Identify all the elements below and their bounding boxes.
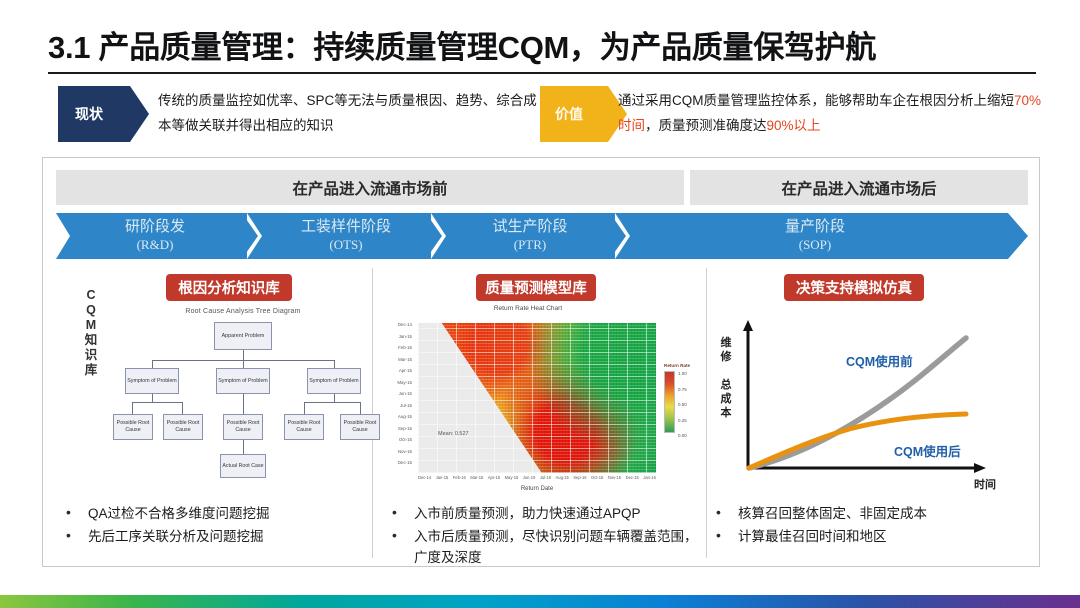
heat-xtick: Mar-15: [470, 475, 483, 480]
heat-ytick: Mar-15: [378, 354, 415, 366]
return-rate-heat-chart: Return Rate Heat Chart Dec-14 Jan-15 Feb…: [378, 305, 708, 500]
list-item: 入市后质量预测，尽快识别问题车辆覆盖范围，广度及深度: [388, 526, 708, 568]
callout-value-tag-label: 价值: [555, 104, 583, 124]
phase-arrow-ots-en: (OTS): [329, 236, 362, 254]
callout-status-text: 传统的质量监控如优率、SPC等无法与质量根因、趋势、综合成本等做关联并得出相应的…: [158, 88, 538, 138]
list-item: QA过检不合格多维度问题挖掘: [62, 503, 377, 524]
tree-node-possible-cause: Possible Root Cause: [163, 414, 203, 440]
colorbar-tick: 1.00: [678, 369, 687, 385]
banner-quality-prediction-model[interactable]: 质量预测模型库: [476, 274, 596, 301]
tree-line: [360, 402, 361, 414]
heat-xtick: Jan-15: [436, 475, 449, 480]
heat-xtick: Apr-15: [488, 475, 500, 480]
heat-chart-plot-area: [418, 323, 656, 473]
callout-value-text: 通过采用CQM质量管理监控体系，能够帮助车企在根因分析上缩短70%时间，质量预测…: [618, 88, 1048, 138]
tree-line: [304, 402, 305, 414]
heat-xtick: Dec-14: [418, 475, 431, 480]
tree-line: [182, 402, 183, 414]
phase-arrow-ots[interactable]: 工装样件阶段 (OTS): [254, 213, 438, 259]
tree-line: [304, 402, 360, 403]
phase-arrow-rd[interactable]: 研阶段发 (R&D): [56, 213, 254, 259]
tree-node-possible-cause: Possible Root Cause: [223, 414, 263, 440]
phase-arrow-rd-en: (R&D): [137, 236, 174, 254]
colorbar-tick: 0.75: [678, 385, 687, 401]
phase-header-post-market: 在产品进入流通市场后: [690, 170, 1028, 205]
heat-chart-mean-annotation: Mean: 0.527: [438, 431, 469, 437]
bullet-list-decision-support: 核算召回整体固定、非固定成本 计算最佳召回时间和地区: [712, 503, 1032, 549]
maintenance-cost-line-chart: 维修总成本 CQM使用前 CQM使用后 时间: [718, 318, 1008, 490]
phase-arrow-sop-cn: 量产阶段: [785, 218, 845, 236]
heat-chart-cell-texture: [418, 323, 656, 473]
heat-ytick: May-15: [378, 377, 415, 389]
tree-line: [132, 402, 133, 414]
phase-arrow-ots-cn: 工装样件阶段: [301, 218, 391, 236]
heat-ytick: Dec-15: [378, 457, 415, 469]
heat-xtick: May-15: [505, 475, 519, 480]
heat-chart-x-axis-label: Return Date: [418, 486, 656, 492]
callout-value-text-part2: ，质量预测准确度达: [645, 118, 767, 133]
phase-arrow-rd-cn: 研阶段发: [125, 218, 185, 236]
phase-arrow-band: 研阶段发 (R&D) 工装样件阶段 (OTS) 试生产阶段 (PTR) 量产阶段…: [56, 213, 1028, 259]
callout-value-highlight2: 90%以上: [767, 118, 821, 133]
title-divider: [48, 72, 1036, 74]
callout-value-text-part1: 通过采用CQM质量管理监控体系，能够帮助车企在根因分析上缩短: [618, 93, 1014, 108]
tree-line: [152, 394, 153, 402]
heat-chart-x-axis: Dec-14 Jan-15 Feb-15 Mar-15 Apr-15 May-1…: [418, 475, 656, 480]
phase-header-row: 在产品进入流通市场前 在产品进入流通市场后: [56, 170, 1028, 205]
page-title: 3.1 产品质量管理：持续质量管理CQM，为产品质量保驾护航: [48, 22, 1038, 67]
colorbar-ticks: 1.00 0.75 0.50 0.25 0.00: [678, 369, 687, 447]
phase-arrow-ptr-cn: 试生产阶段: [492, 218, 567, 236]
heat-ytick: Dec-14: [378, 319, 415, 331]
callout-status-arrow-icon: [130, 86, 149, 142]
callout-status-tag: 现状: [58, 86, 130, 142]
heat-xtick: Sep-15: [573, 475, 586, 480]
heat-ytick: Jul-15: [378, 400, 415, 412]
heat-ytick: Feb-15: [378, 342, 415, 354]
callout-value-tag: 价值: [540, 86, 608, 142]
colorbar-tick: 0.00: [678, 431, 687, 447]
tree-node-symptom: Symptom of Problem: [307, 368, 361, 394]
x-axis-arrow-icon: [974, 463, 986, 473]
heat-ytick: Nov-15: [378, 446, 415, 458]
tree-node-root: Apparent Problem: [214, 322, 272, 350]
banner-root-cause-kb[interactable]: 根因分析知识库: [166, 274, 292, 301]
heat-xtick: Nov-15: [608, 475, 621, 480]
tree-node-possible-cause: Possible Root Cause: [340, 414, 380, 440]
bullet-list-root-cause: QA过检不合格多维度问题挖掘 先后工序关联分析及问题挖掘: [62, 503, 377, 549]
list-item: 计算最佳召回时间和地区: [712, 526, 1032, 547]
tree-line: [152, 360, 153, 368]
heat-xtick: Feb-15: [453, 475, 466, 480]
tree-node-possible-cause: Possible Root Cause: [113, 414, 153, 440]
tree-node-possible-cause: Possible Root Cause: [284, 414, 324, 440]
heat-xtick: Aug-15: [556, 475, 569, 480]
heat-ytick: Apr-15: [378, 365, 415, 377]
root-cause-tree-diagram: Root Cause Analysis Tree Diagram Apparen…: [118, 308, 368, 488]
heat-xtick: Jun-15: [523, 475, 536, 480]
phase-arrow-sop-en: (SOP): [799, 236, 832, 254]
list-item: 先后工序关联分析及问题挖掘: [62, 526, 377, 547]
line-chart-x-axis-label: 时间: [974, 476, 996, 492]
tree-node-symptom: Symptom of Problem: [216, 368, 270, 394]
heat-xtick: Jan-16: [643, 475, 656, 480]
heat-xtick: Jul-15: [540, 475, 551, 480]
list-item: 入市前质量预测，助力快速通过APQP: [388, 503, 708, 524]
phase-arrow-ptr-en: (PTR): [514, 236, 547, 254]
colorbar-tick: 0.25: [678, 416, 687, 432]
list-item: 核算召回整体固定、非固定成本: [712, 503, 1032, 524]
y-axis-arrow-icon: [743, 320, 753, 331]
callout-status-tag-label: 现状: [75, 104, 103, 124]
line-chart-legend-before: CQM使用前: [846, 351, 913, 370]
callout-value: 价值 通过采用CQM质量管理监控体系，能够帮助车企在根因分析上缩短70%时间，质…: [540, 86, 1040, 142]
heat-chart-title: Return Rate Heat Chart: [378, 305, 678, 312]
tree-line: [243, 350, 244, 360]
phase-header-pre-market: 在产品进入流通市场前: [56, 170, 684, 205]
callout-status: 现状 传统的质量监控如优率、SPC等无法与质量根因、趋势、综合成本等做关联并得出…: [58, 86, 528, 142]
tree-line: [243, 440, 244, 454]
arrow-tip-icon: [1008, 213, 1028, 259]
banner-decision-support-simulation[interactable]: 决策支持模拟仿真: [784, 274, 924, 301]
tree-line: [334, 394, 335, 402]
tree-line: [132, 402, 182, 403]
heat-ytick: Oct-15: [378, 434, 415, 446]
cqm-knowledge-base-label: CQM知识库: [80, 288, 102, 378]
tree-line: [243, 394, 244, 414]
colorbar-gradient: [664, 371, 675, 433]
phase-arrow-ptr[interactable]: 试生产阶段 (PTR): [438, 213, 622, 259]
heat-ytick: Aug-15: [378, 411, 415, 423]
colorbar-tick: 0.50: [678, 400, 687, 416]
heat-ytick: Jun-15: [378, 388, 415, 400]
tree-diagram-title: Root Cause Analysis Tree Diagram: [118, 308, 368, 315]
phase-arrow-sop[interactable]: 量产阶段 (SOP): [622, 213, 1008, 259]
heat-xtick: Oct-15: [591, 475, 603, 480]
slide-root: 3.1 产品质量管理：持续质量管理CQM，为产品质量保驾护航 现状 传统的质量监…: [0, 0, 1080, 608]
tree-node-actual-cause: Actual Root Case: [220, 454, 266, 478]
tree-line: [243, 360, 244, 368]
heat-chart-colorbar: Return Rate 1.00 0.75 0.50 0.25 0.00: [664, 363, 706, 370]
heat-ytick: Jan-15: [378, 331, 415, 343]
colorbar-title: Return Rate: [664, 363, 706, 368]
bullet-list-quality-prediction: 入市前质量预测，助力快速通过APQP 入市后质量预测，尽快识别问题车辆覆盖范围，…: [388, 503, 708, 570]
tree-line: [334, 360, 335, 368]
line-chart-svg: [718, 318, 1008, 490]
footer-gradient-bar: [0, 595, 1080, 608]
heat-chart-y-axis: Dec-14 Jan-15 Feb-15 Mar-15 Apr-15 May-1…: [378, 319, 415, 469]
line-chart-legend-after: CQM使用后: [894, 441, 961, 460]
heat-xtick: Dec-15: [626, 475, 639, 480]
heat-ytick: Sep-15: [378, 423, 415, 435]
tree-node-symptom: Symptom of Problem: [125, 368, 179, 394]
